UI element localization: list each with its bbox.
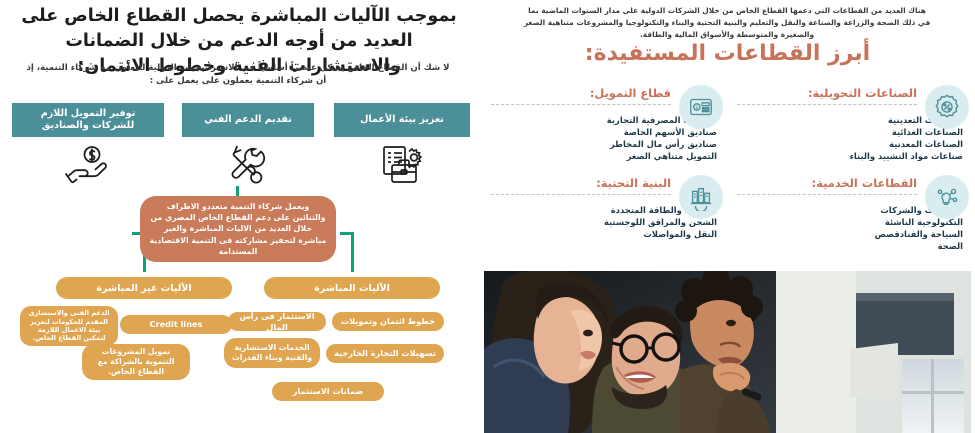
sector-title-services: القطاعات الخدمية: [812,175,917,190]
infographic-page: بموجب الآليات المباشرة يحصل القطاع الخاص… [0,0,975,433]
connector-right-vertical [351,232,354,272]
direct-pill-capital-investment: الاستثمار فى رأس المال [228,312,326,331]
svg-text:$: $ [695,105,698,111]
sector-block-finance: قطاع التمويل: $ [491,85,723,173]
factory-gear-icon [679,175,723,219]
sector-block-services: القطاعات الخدمية: الاتصالات والشرك [737,175,969,263]
sector-header-manufacturing: الصناعات التحويلية: [737,85,969,115]
pillar-box-financing: توفير التمويل اللازم للشركات والصناديق [12,103,164,137]
sector-block-infrastructure: البنية التحتية: [491,175,723,263]
sector-title-infrastructure: البنية التحتية: [596,175,671,190]
connector-right-horizontal [340,232,354,235]
list-item: صناديق الأسهم الخاصة [491,127,717,139]
sector-title-finance: قطاع التمويل: [590,85,671,100]
pillar-box-technical-support: تقديم الدعم الفني [182,103,314,137]
support-pillars-row: تعزيز بيئة الأعمال تقديم الدعم الفني توف… [0,103,480,139]
divider-dashed [491,194,671,195]
list-item: الصناعات الغذائية [737,127,963,139]
hub-box: ويعمل شركاء التنمية متعددو الاطراف والثن… [140,196,336,262]
list-item: النقل والمواصلات [491,229,717,241]
gear-badge-icon [925,85,969,129]
right-panel-intro: هناك العديد من القطاعات التي دعمها القطا… [523,5,931,41]
team-photo [484,271,971,433]
support-pillars-icons [0,142,480,190]
wrench-screwdriver-icon [182,142,314,190]
direct-pill-investment-guarantees: ضمانات الاستثمار [272,382,384,401]
sector-title-manufacturing: الصناعات التحويلية: [808,85,917,100]
indirect-pill-technical-advisory: الدعم الفنى والاستشارى المقدم للحكومات ل… [20,306,118,346]
right-panel: هناك العديد من القطاعات التي دعمها القطا… [480,0,975,433]
pillar-box-business-environment: تعزيز بيئة الأعمال [334,103,470,137]
indirect-pill-credit-lines: Credit lines [120,315,232,334]
list-item: صناديق رأس مال المخاطر [491,139,717,151]
list-item: صناعات مواد التشييد والبناء [737,151,963,163]
left-panel-subtext: لا شك أن القطاع الخاص يشكل عنصراً أساسيا… [24,62,452,89]
branch-indirect-mechanisms: الآليات غير المباشرة [56,277,232,299]
direct-pill-credit-lines-financing: خطوط ائتمان وتمويلات [332,312,444,331]
list-item: الشحن والمرافق اللوجستية [491,217,717,229]
sector-block-manufacturing: الصناعات التحويلية: الصناعات التعدينية ا… [737,85,969,173]
direct-pill-foreign-trade-facilities: تسهيلات التجارة الخارجية [326,344,444,363]
money-calculator-icon: $ [679,85,723,129]
divider-dashed [737,104,917,105]
list-item: السياحة والفنادقصص [737,229,963,241]
divider-dashed [491,104,671,105]
direct-pill-advisory-capacity-building: الخدمات الاستشارية والفنية وبناء القدرات [224,338,320,368]
list-item: التكنولوجية الناشئة [737,217,963,229]
divider-dashed [737,194,917,195]
document-briefcase-gear-icon [334,142,470,190]
network-bulb-icon [925,175,969,219]
right-panel-title: أبرز القطاعات المستفيدة: [500,41,955,66]
list-item: التمويل متناهي الصغر [491,151,717,163]
branch-direct-mechanisms: الآليات المباشرة [264,277,440,299]
left-panel: بموجب الآليات المباشرة يحصل القطاع الخاص… [0,0,480,433]
sector-header-finance: قطاع التمويل: $ [491,85,723,115]
indirect-pill-development-projects-financing: تمويل المشروعات التنموية بالشراكة مع الق… [82,344,190,380]
sector-header-infrastructure: البنية التحتية: [491,175,723,205]
sector-header-services: القطاعات الخدمية: [737,175,969,205]
hand-holding-dollar-icon [12,142,164,190]
list-item: الصحة [737,241,963,253]
list-item: الصناعات المعدنية [737,139,963,151]
